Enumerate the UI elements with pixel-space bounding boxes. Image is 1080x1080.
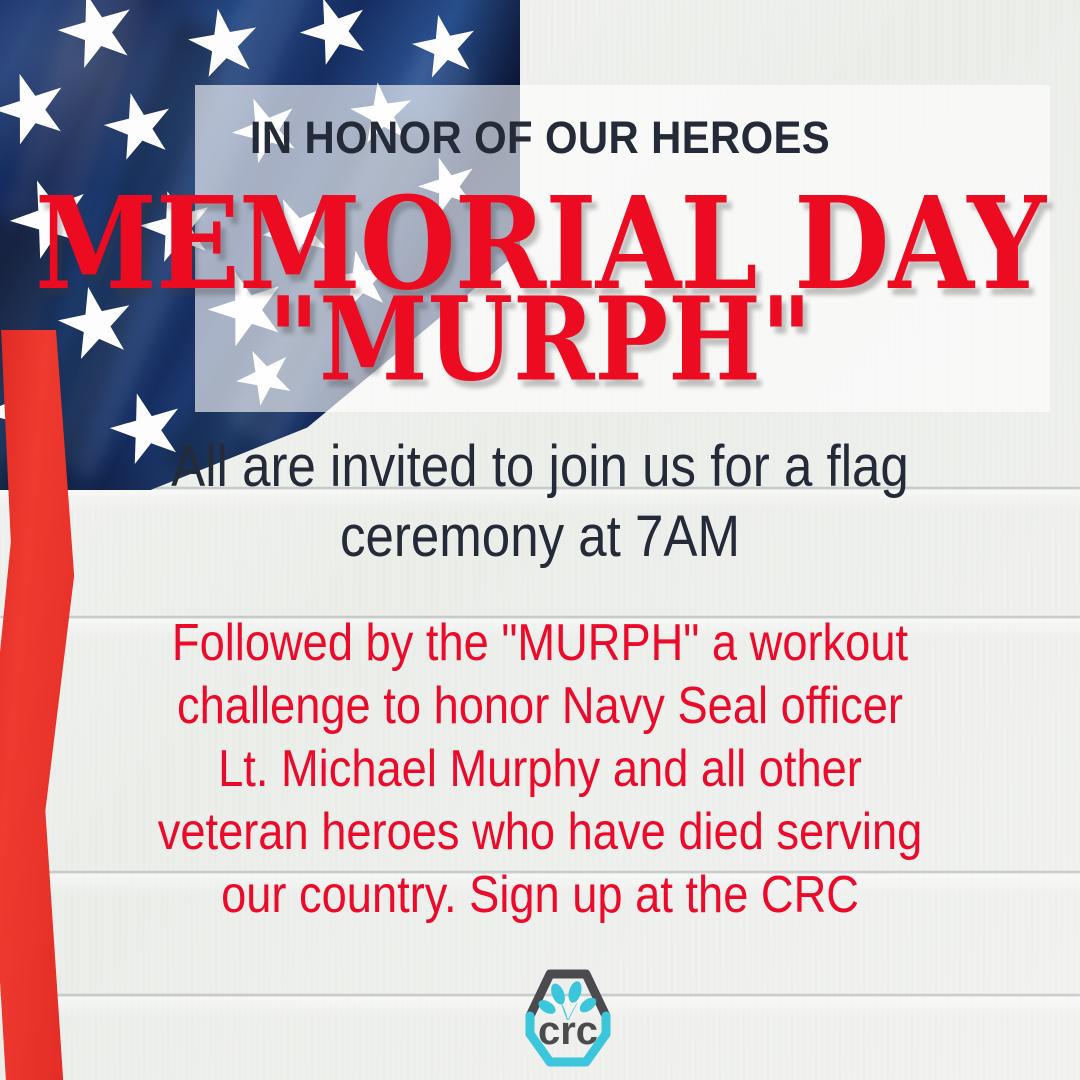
page-subtitle: "MURPH" — [0, 272, 1080, 408]
memorial-day-flyer: IN HONOR OF OUR HEROES MEMORIAL DAY "MUR… — [0, 0, 1080, 1080]
crc-wordmark: crc — [538, 1009, 598, 1053]
crc-logo-icon: crc — [498, 958, 638, 1076]
detail-line: veteran heroes who have died serving — [122, 801, 957, 864]
detail-line: Lt. Michael Murphy and all other — [122, 738, 957, 801]
detail-line: challenge to honor Navy Seal officer — [122, 675, 957, 738]
crc-logo: crc — [498, 958, 638, 1076]
kicker-heading: IN HONOR OF OUR HEROES — [38, 112, 1042, 164]
detail-line: our country. Sign up at the CRC — [122, 864, 957, 927]
detail-paragraph: Followed by the "MURPH" a workout challe… — [122, 612, 957, 927]
detail-line: Followed by the "MURPH" a workout — [122, 612, 957, 675]
invitation-text: All are invited to join us for a flag ce… — [144, 432, 936, 572]
